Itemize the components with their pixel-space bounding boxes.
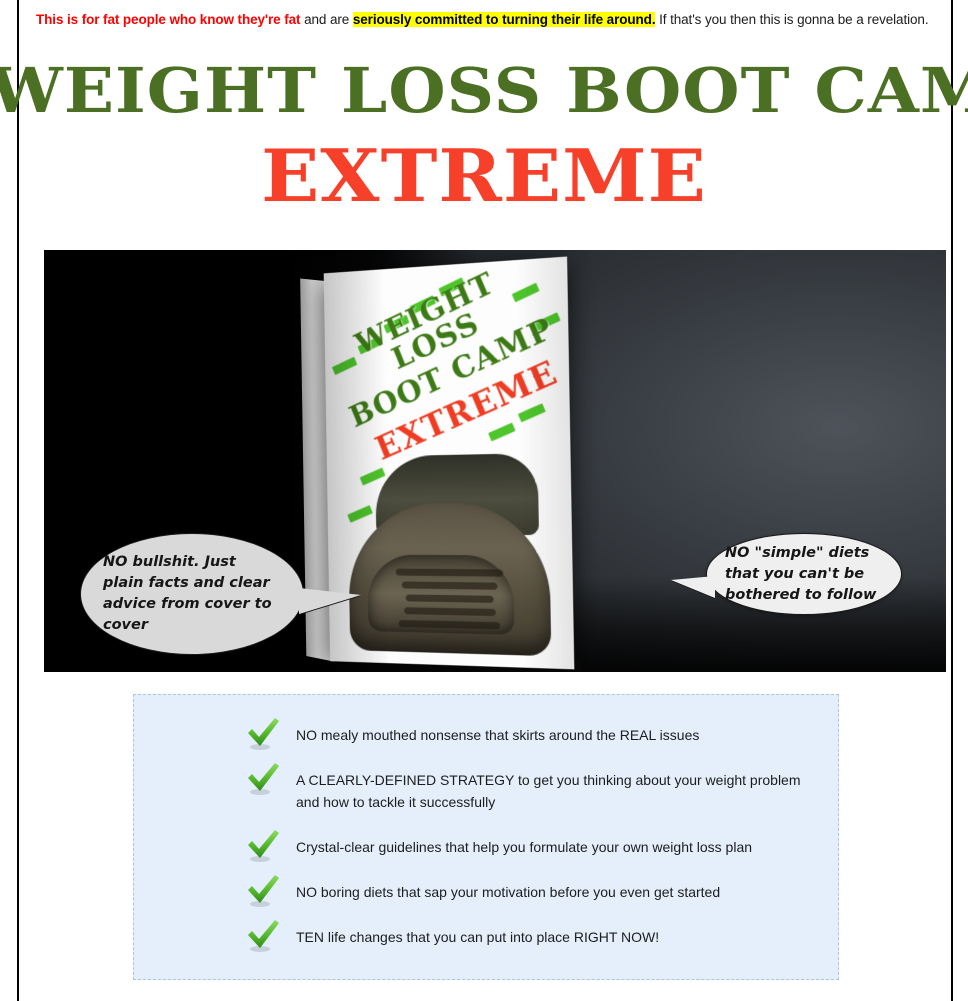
book-cover-text: WEIGHT LOSS BOOT CAMP EXTREME bbox=[324, 257, 575, 475]
ebook-cover-image: WEIGHT LOSS BOOT CAMP EXTREME bbox=[324, 257, 575, 670]
speech-bubble-simple-diets: NO "simple" diets that you can't be both… bbox=[706, 533, 902, 615]
book-reflection bbox=[337, 657, 581, 672]
benefit-label: NO mealy mouthed nonsense that skirts ar… bbox=[296, 723, 699, 746]
benefit-list-item: A CLEARLY-DEFINED STRATEGY to get you th… bbox=[244, 768, 814, 813]
green-check-icon bbox=[244, 761, 282, 797]
speech-bubble-tail bbox=[671, 576, 715, 598]
title-line-1: WEIGHT LOSS BOOT CAMP bbox=[0, 60, 968, 122]
cover-dash-icon bbox=[518, 403, 546, 422]
green-check-icon bbox=[244, 828, 282, 864]
cover-dash-icon bbox=[512, 283, 540, 303]
intro-mid-text: and are bbox=[300, 12, 352, 27]
title-line-2: EXTREME bbox=[0, 140, 968, 212]
benefit-label: Crystal-clear guidelines that help you f… bbox=[296, 835, 752, 858]
green-check-icon bbox=[244, 873, 282, 909]
green-check-icon bbox=[244, 918, 282, 954]
page-title: WEIGHT LOSS BOOT CAMP EXTREME bbox=[17, 60, 951, 212]
benefit-list-item: NO boring diets that sap your motivation… bbox=[244, 880, 814, 909]
intro-tail-text: If that's you then this is gonna be a re… bbox=[655, 12, 928, 27]
benefit-label: A CLEARLY-DEFINED STRATEGY to get you th… bbox=[296, 768, 814, 813]
benefit-list-item: TEN life changes that you can put into p… bbox=[244, 925, 814, 954]
benefit-list-item: NO mealy mouthed nonsense that skirts ar… bbox=[244, 723, 814, 752]
speech-bubble-text: NO bullshit. Just plain facts and clear … bbox=[81, 552, 303, 636]
cover-dash-icon bbox=[488, 423, 516, 442]
speech-bubble-tail bbox=[299, 588, 361, 614]
cover-dash-icon bbox=[533, 312, 561, 332]
benefits-checklist-box: NO mealy mouthed nonsense that skirts ar… bbox=[133, 694, 839, 980]
book-front-cover: WEIGHT LOSS BOOT CAMP EXTREME bbox=[324, 257, 575, 670]
intro-highlight-text: seriously committed to turning their lif… bbox=[353, 12, 656, 27]
intro-paragraph: This is for fat people who know they're … bbox=[36, 8, 932, 31]
benefit-label: NO boring diets that sap your motivation… bbox=[296, 880, 720, 903]
green-check-icon bbox=[244, 716, 282, 752]
benefit-list-item: Crystal-clear guidelines that help you f… bbox=[244, 835, 814, 864]
intro-red-text: This is for fat people who know they're … bbox=[36, 12, 300, 27]
boot-treads bbox=[396, 569, 505, 641]
hero-image-panel: WEIGHT LOSS BOOT CAMP EXTREME NO bullshi… bbox=[44, 250, 946, 672]
boot-sole-photo bbox=[343, 451, 555, 667]
speech-bubble-no-bullshit: NO bullshit. Just plain facts and clear … bbox=[80, 533, 304, 655]
speech-bubble-text: NO "simple" diets that you can't be both… bbox=[707, 543, 901, 606]
benefit-label: TEN life changes that you can put into p… bbox=[296, 925, 659, 948]
